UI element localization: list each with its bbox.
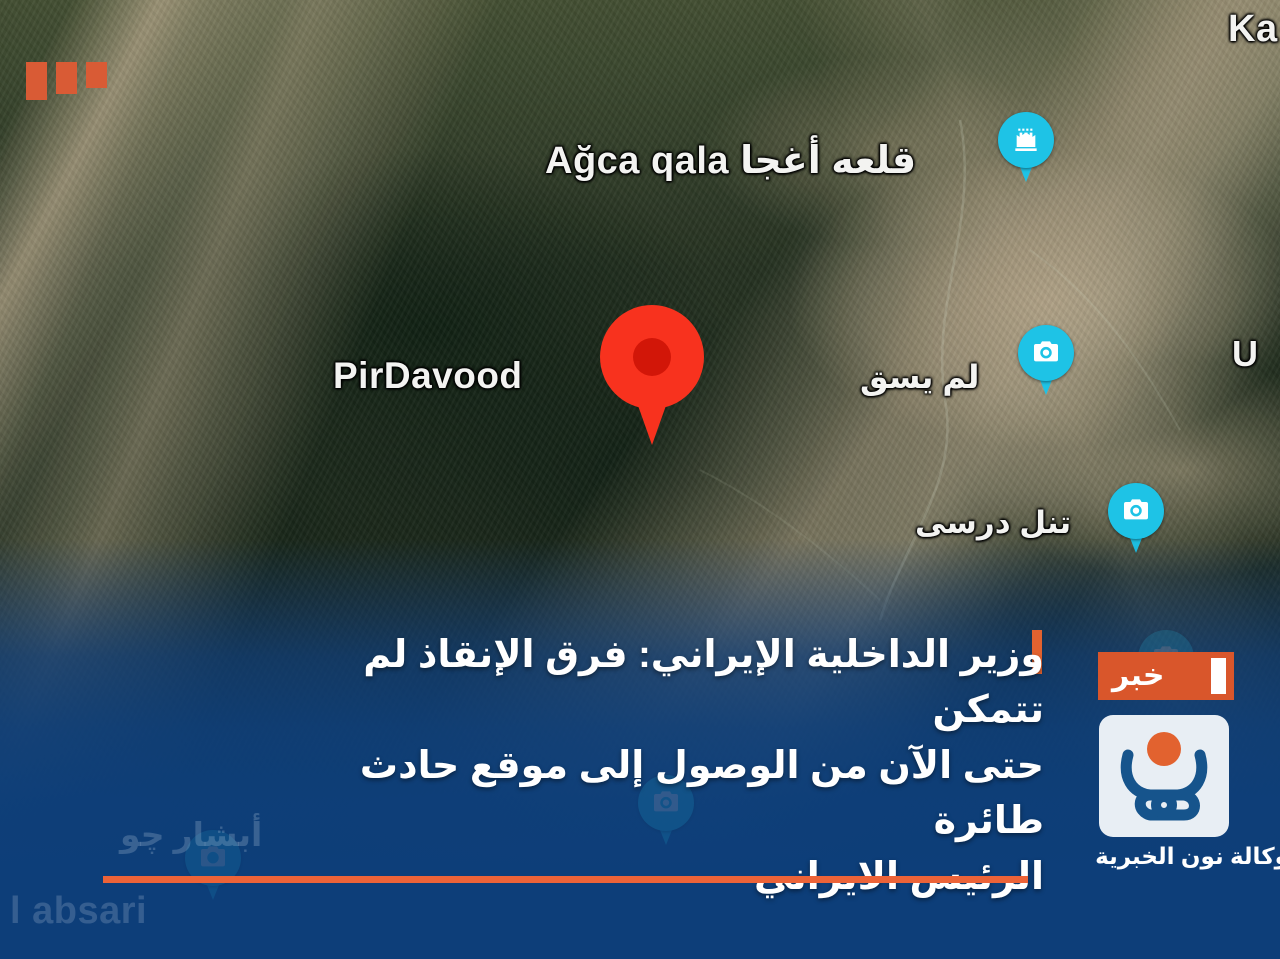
headline: وزير الداخلية الإيراني: فرق الإنقاذ لم ت… — [254, 628, 1044, 905]
map-label-abshar: أبشار چو — [120, 815, 262, 854]
brand-name: وكالة نون الخبرية — [1092, 843, 1280, 870]
brand-logo — [1099, 715, 1229, 837]
camera-icon[interactable] — [1018, 325, 1074, 397]
status-badge: خبر — [1098, 652, 1234, 700]
noon-logo-icon — [1110, 723, 1218, 829]
map-label-u: U — [1232, 333, 1259, 375]
headline-divider — [103, 876, 1028, 883]
map-label-pirdavood: PirDavood — [333, 355, 523, 397]
crash-site-marker[interactable] — [600, 305, 704, 445]
headline-line-1: وزير الداخلية الإيراني: فرق الإنقاذ لم ت… — [254, 628, 1044, 739]
badge-accent-bar — [1211, 658, 1226, 694]
map-label-tunnel-darsi: تنل درسی — [915, 505, 1071, 541]
map-label-agca-qala: Ağca qala قلعه أغجا — [545, 138, 916, 183]
headline-line-2: حتى الآن من الوصول إلى موقع حادث طائرة — [254, 739, 1044, 850]
map-label-ka: Ka — [1228, 8, 1278, 51]
corner-bars-logo — [26, 62, 107, 100]
castle-icon[interactable] — [998, 112, 1054, 184]
map-label-absari: l absari — [10, 890, 147, 933]
status-badge-label: خبر — [1112, 661, 1165, 691]
news-card: Ka Ağca qala قلعه أغجا PirDavood لم يسق … — [0, 0, 1280, 959]
map-label-lam-yosq: لم يسق — [860, 358, 979, 396]
